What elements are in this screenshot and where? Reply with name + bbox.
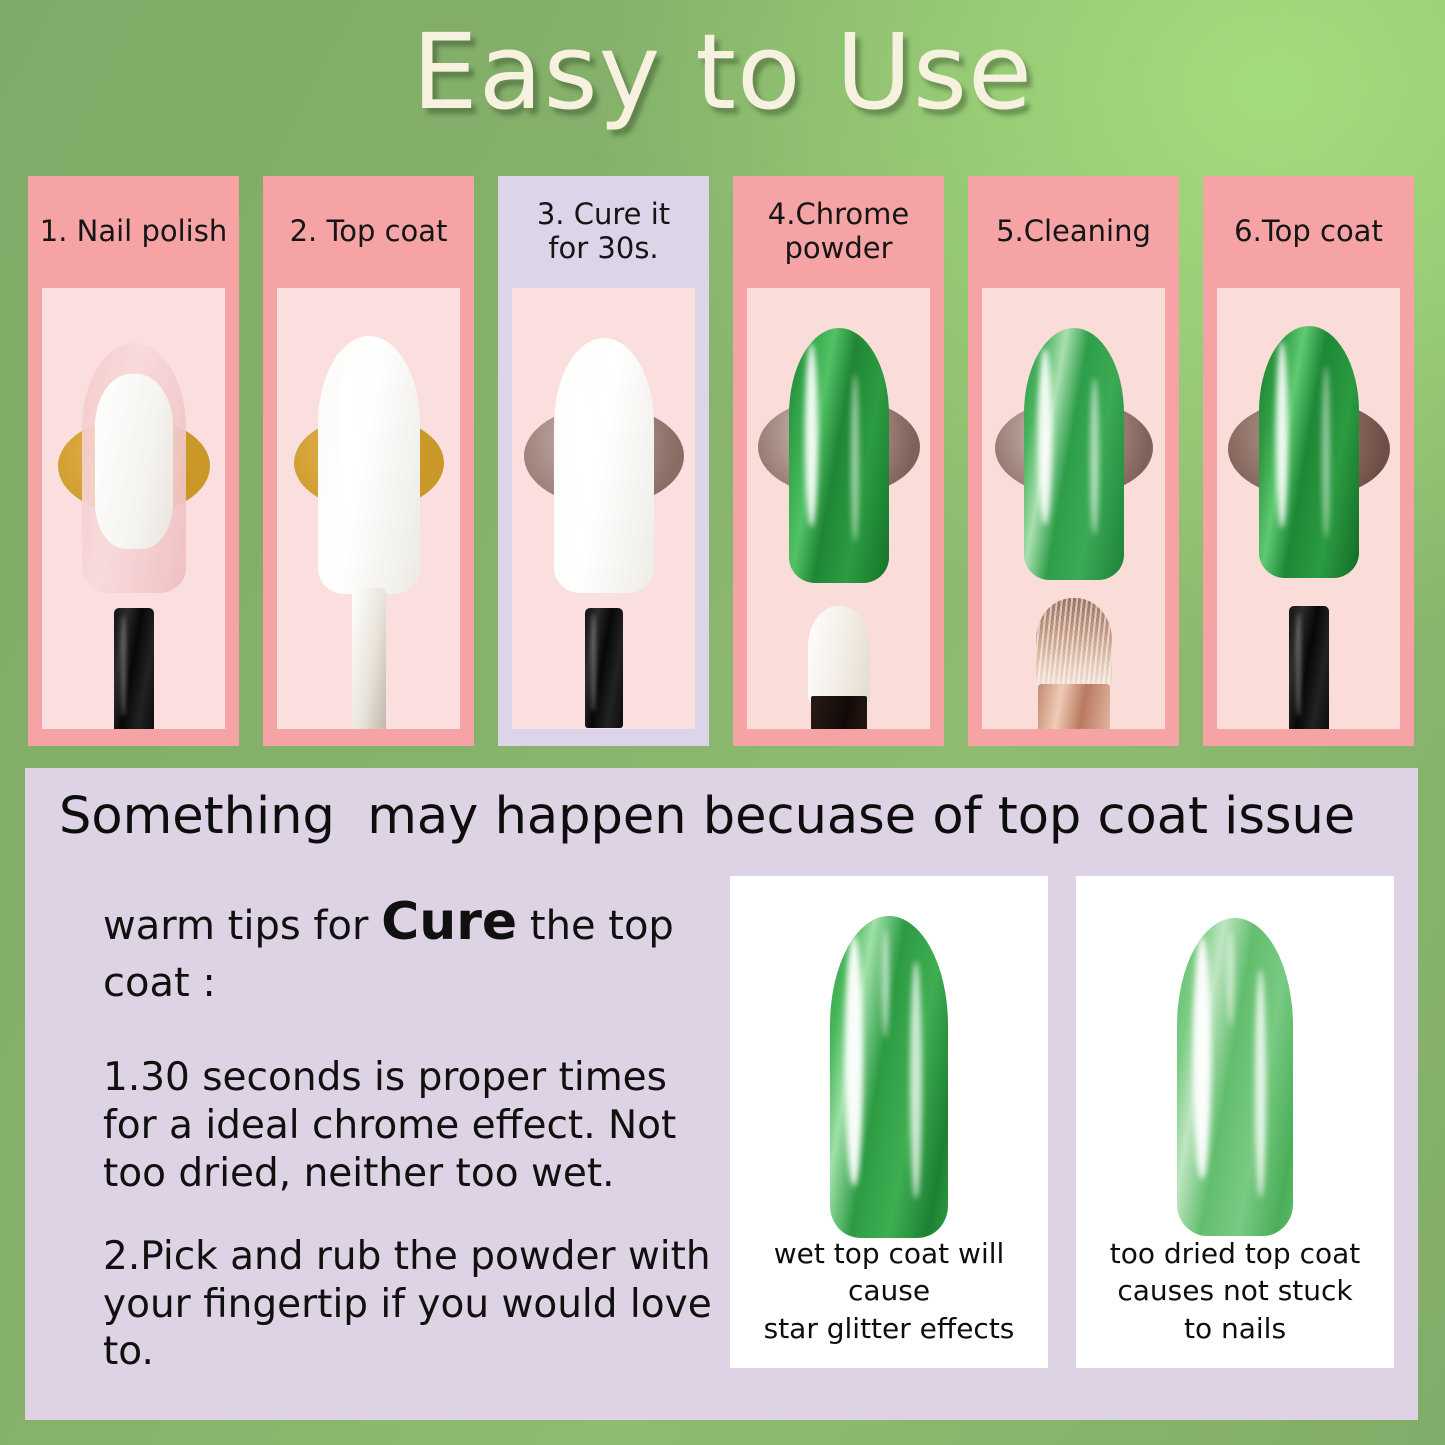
steps-row: 1. Nail polish 2. Top coat 3. Cure it fo…	[28, 176, 1420, 746]
step-photo-4	[747, 288, 930, 729]
tips-column: warm tips for Cure the top coat : 1.30 s…	[103, 888, 723, 1412]
nail-icon-green-chrome	[1259, 326, 1359, 578]
step-photo-3	[512, 288, 695, 729]
tip-item-1: 1.30 seconds is proper times for a ideal…	[103, 1054, 723, 1197]
step-photo-6	[1217, 288, 1400, 729]
comparison-art-dried	[1076, 894, 1394, 1235]
makeup-brush-bristles-icon	[1036, 598, 1112, 690]
step-photo-1	[42, 288, 225, 729]
nail-icon-green-chrome	[1024, 328, 1124, 580]
step-card-6[interactable]: 6.Top coat	[1203, 176, 1414, 746]
nail-icon-white-cured	[554, 338, 654, 593]
step-label-3: 3. Cure it for 30s.	[498, 176, 709, 288]
step-card-4[interactable]: 4.Chrome powder	[733, 176, 944, 746]
tip-item-2: 2.Pick and rub the powder with your fing…	[103, 1233, 723, 1376]
step-label-5: 5.Cleaning	[968, 176, 1179, 288]
step-card-2[interactable]: 2. Top coat	[263, 176, 474, 746]
tips-lead-emphasis: Cure	[381, 892, 517, 952]
makeup-brush-ferrule-icon	[1038, 684, 1110, 729]
tips-lead: warm tips for Cure the top coat :	[103, 888, 723, 1010]
sponge-applicator-icon	[808, 606, 870, 704]
nail-icon-green-matte	[1177, 918, 1293, 1236]
step-label-6: 6.Top coat	[1203, 176, 1414, 288]
nail-icon-green-chrome	[789, 328, 889, 583]
comparison-art-wet	[730, 894, 1048, 1235]
polish-brush-handle-icon	[1289, 606, 1329, 729]
step-label-2: 2. Top coat	[263, 176, 474, 288]
white-polish-icon	[95, 374, 173, 549]
comparison-card-dried[interactable]: too dried top coat causes not stuck to n…	[1076, 876, 1394, 1368]
page-title: Easy to Use	[0, 18, 1445, 127]
tips-lead-before: warm tips for	[103, 903, 381, 949]
nail-icon-white	[318, 336, 420, 594]
comparison-card-wet[interactable]: wet top coat will cause star glitter eff…	[730, 876, 1048, 1368]
polish-brush-icon	[352, 588, 386, 729]
tips-panel: Something may happen becuase of top coat…	[25, 768, 1418, 1420]
sponge-handle-icon	[811, 696, 867, 729]
polish-brush-handle-icon	[114, 608, 154, 729]
infographic-poster: Easy to Use 1. Nail polish 2. Top coat	[0, 0, 1445, 1445]
step-photo-2	[277, 288, 460, 729]
comparison-cards: wet top coat will cause star glitter eff…	[730, 876, 1395, 1368]
step-label-4: 4.Chrome powder	[733, 176, 944, 288]
step-card-5[interactable]: 5.Cleaning	[968, 176, 1179, 746]
step-label-1: 1. Nail polish	[28, 176, 239, 288]
polish-brush-handle-icon	[585, 608, 623, 728]
step-photo-5	[982, 288, 1165, 729]
step-card-3[interactable]: 3. Cure it for 30s.	[498, 176, 709, 746]
panel-heading: Something may happen becuase of top coat…	[59, 790, 1389, 844]
comparison-caption-wet: wet top coat will cause star glitter eff…	[730, 1235, 1048, 1368]
comparison-caption-dried: too dried top coat causes not stuck to n…	[1096, 1235, 1375, 1368]
step-card-1[interactable]: 1. Nail polish	[28, 176, 239, 746]
nail-icon-green-glossy	[830, 916, 948, 1238]
